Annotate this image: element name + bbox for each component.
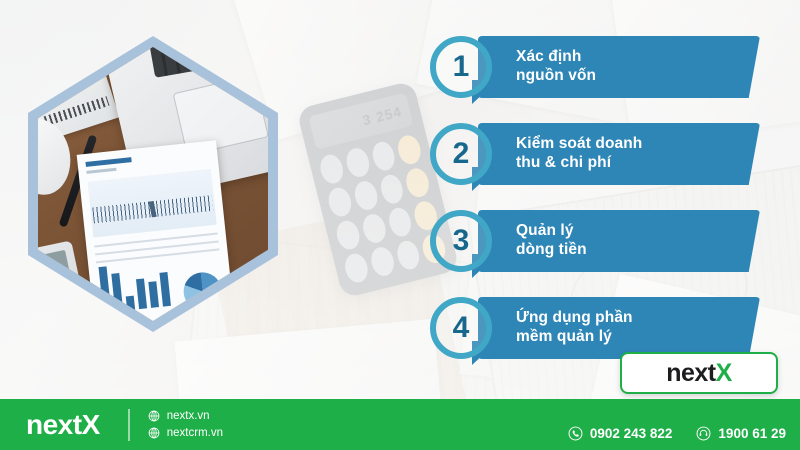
step-banner[interactable]: Ứng dụng phần mềm quản lý bbox=[478, 297, 760, 359]
step-item-1[interactable]: Xác định nguồn vốn 1 bbox=[430, 30, 760, 117]
logo-text: nextX bbox=[666, 359, 732, 388]
step-number: 2 bbox=[453, 139, 470, 169]
step-number-circle: 2 bbox=[430, 123, 492, 185]
nextx-logo-box: nextX bbox=[620, 352, 778, 394]
report-line-chart bbox=[88, 169, 217, 238]
phone-label: 1900 61 29 bbox=[718, 426, 786, 441]
phone-label: 0902 243 822 bbox=[590, 426, 673, 441]
phone-item[interactable]: 1900 61 29 bbox=[696, 426, 786, 441]
website-label: nextcrm.vn bbox=[167, 427, 223, 439]
hexagon-hero-image bbox=[28, 36, 278, 332]
step-label: Kiểm soát doanh thu & chi phí bbox=[478, 135, 642, 173]
step-number: 4 bbox=[453, 313, 470, 343]
website-item[interactable]: nextx.vn bbox=[148, 410, 223, 422]
globe-icon bbox=[148, 410, 160, 422]
phone-item[interactable]: 0902 243 822 bbox=[568, 426, 673, 441]
step-label: Ứng dụng phần mềm quản lý bbox=[478, 309, 633, 347]
globe-icon bbox=[148, 427, 160, 439]
step-number: 3 bbox=[453, 226, 470, 256]
step-banner[interactable]: Kiểm soát doanh thu & chi phí bbox=[478, 123, 760, 185]
footer-divider bbox=[128, 409, 130, 441]
step-item-3[interactable]: Quản lý dòng tiền 3 bbox=[430, 204, 760, 291]
phone-icon bbox=[568, 426, 583, 441]
hotline-icon bbox=[696, 426, 711, 441]
website-label: nextx.vn bbox=[167, 410, 210, 422]
logo-text-accent: X bbox=[716, 359, 732, 387]
step-banner[interactable]: Quản lý dòng tiền bbox=[478, 210, 760, 272]
report-subtitle-block bbox=[86, 168, 116, 174]
step-number-circle: 3 bbox=[430, 210, 492, 272]
footer-phones: 0902 243 822 1900 61 29 bbox=[568, 426, 786, 441]
step-number-circle: 4 bbox=[430, 297, 492, 359]
website-item[interactable]: nextcrm.vn bbox=[148, 427, 223, 439]
step-number-circle: 1 bbox=[430, 36, 492, 98]
step-number: 1 bbox=[453, 52, 470, 82]
report-title-block bbox=[85, 157, 131, 167]
logo-text-primary: next bbox=[666, 359, 715, 387]
footer-brand: nextX bbox=[26, 409, 100, 441]
step-item-2[interactable]: Kiểm soát doanh thu & chi phí 2 bbox=[430, 117, 760, 204]
footer-bar: nextX nextx.vn nextcrm.vn bbox=[0, 399, 800, 450]
footer-websites: nextx.vn nextcrm.vn bbox=[148, 410, 223, 439]
steps-list: Xác định nguồn vốn 1 Kiểm soát doanh thu… bbox=[430, 30, 760, 378]
infographic-canvas: 3 254 bbox=[0, 0, 800, 450]
step-banner[interactable]: Xác định nguồn vốn bbox=[478, 36, 760, 98]
